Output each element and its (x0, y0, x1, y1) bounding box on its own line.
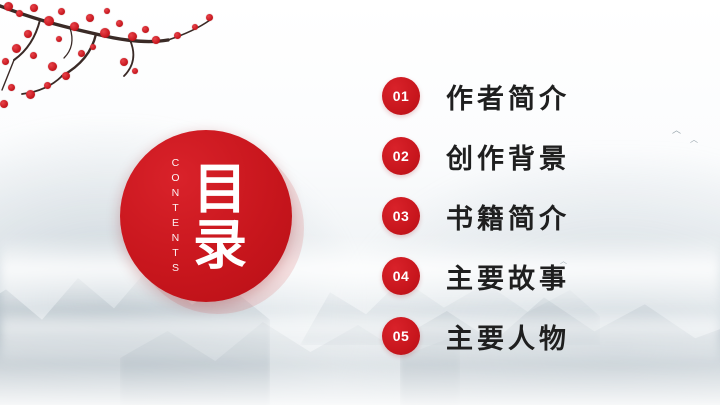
item-label: 主要故事 (446, 257, 570, 296)
list-item[interactable]: 03 书籍简介 (382, 186, 682, 246)
item-number-badge: 04 (382, 257, 420, 295)
list-item[interactable]: 05 主要人物 (382, 306, 682, 366)
item-label: 主要人物 (446, 317, 570, 356)
item-label: 作者简介 (446, 77, 570, 116)
item-number-badge: 03 (382, 197, 420, 235)
list-item[interactable]: 04 主要故事 (382, 246, 682, 306)
slide-canvas: ︿ ︿ ︿ (0, 0, 720, 405)
item-label: 创作背景 (446, 137, 570, 176)
toc-circle: 目录 CONTENTS (120, 130, 292, 302)
bird-icon: ︿ (690, 136, 698, 144)
item-number-badge: 05 (382, 317, 420, 355)
contents-list: 01 作者简介 02 创作背景 03 书籍简介 04 主要故事 05 主要人物 (382, 66, 682, 366)
list-item[interactable]: 01 作者简介 (382, 66, 682, 126)
plum-branch-icon (0, 0, 230, 140)
item-number-badge: 02 (382, 137, 420, 175)
item-label: 书籍简介 (446, 197, 570, 236)
page-subtitle: CONTENTS (169, 155, 181, 277)
item-number-badge: 01 (382, 77, 420, 115)
list-item[interactable]: 02 创作背景 (382, 126, 682, 186)
plum-branch-svg (0, 0, 230, 140)
page-title: 目录 (187, 160, 242, 272)
